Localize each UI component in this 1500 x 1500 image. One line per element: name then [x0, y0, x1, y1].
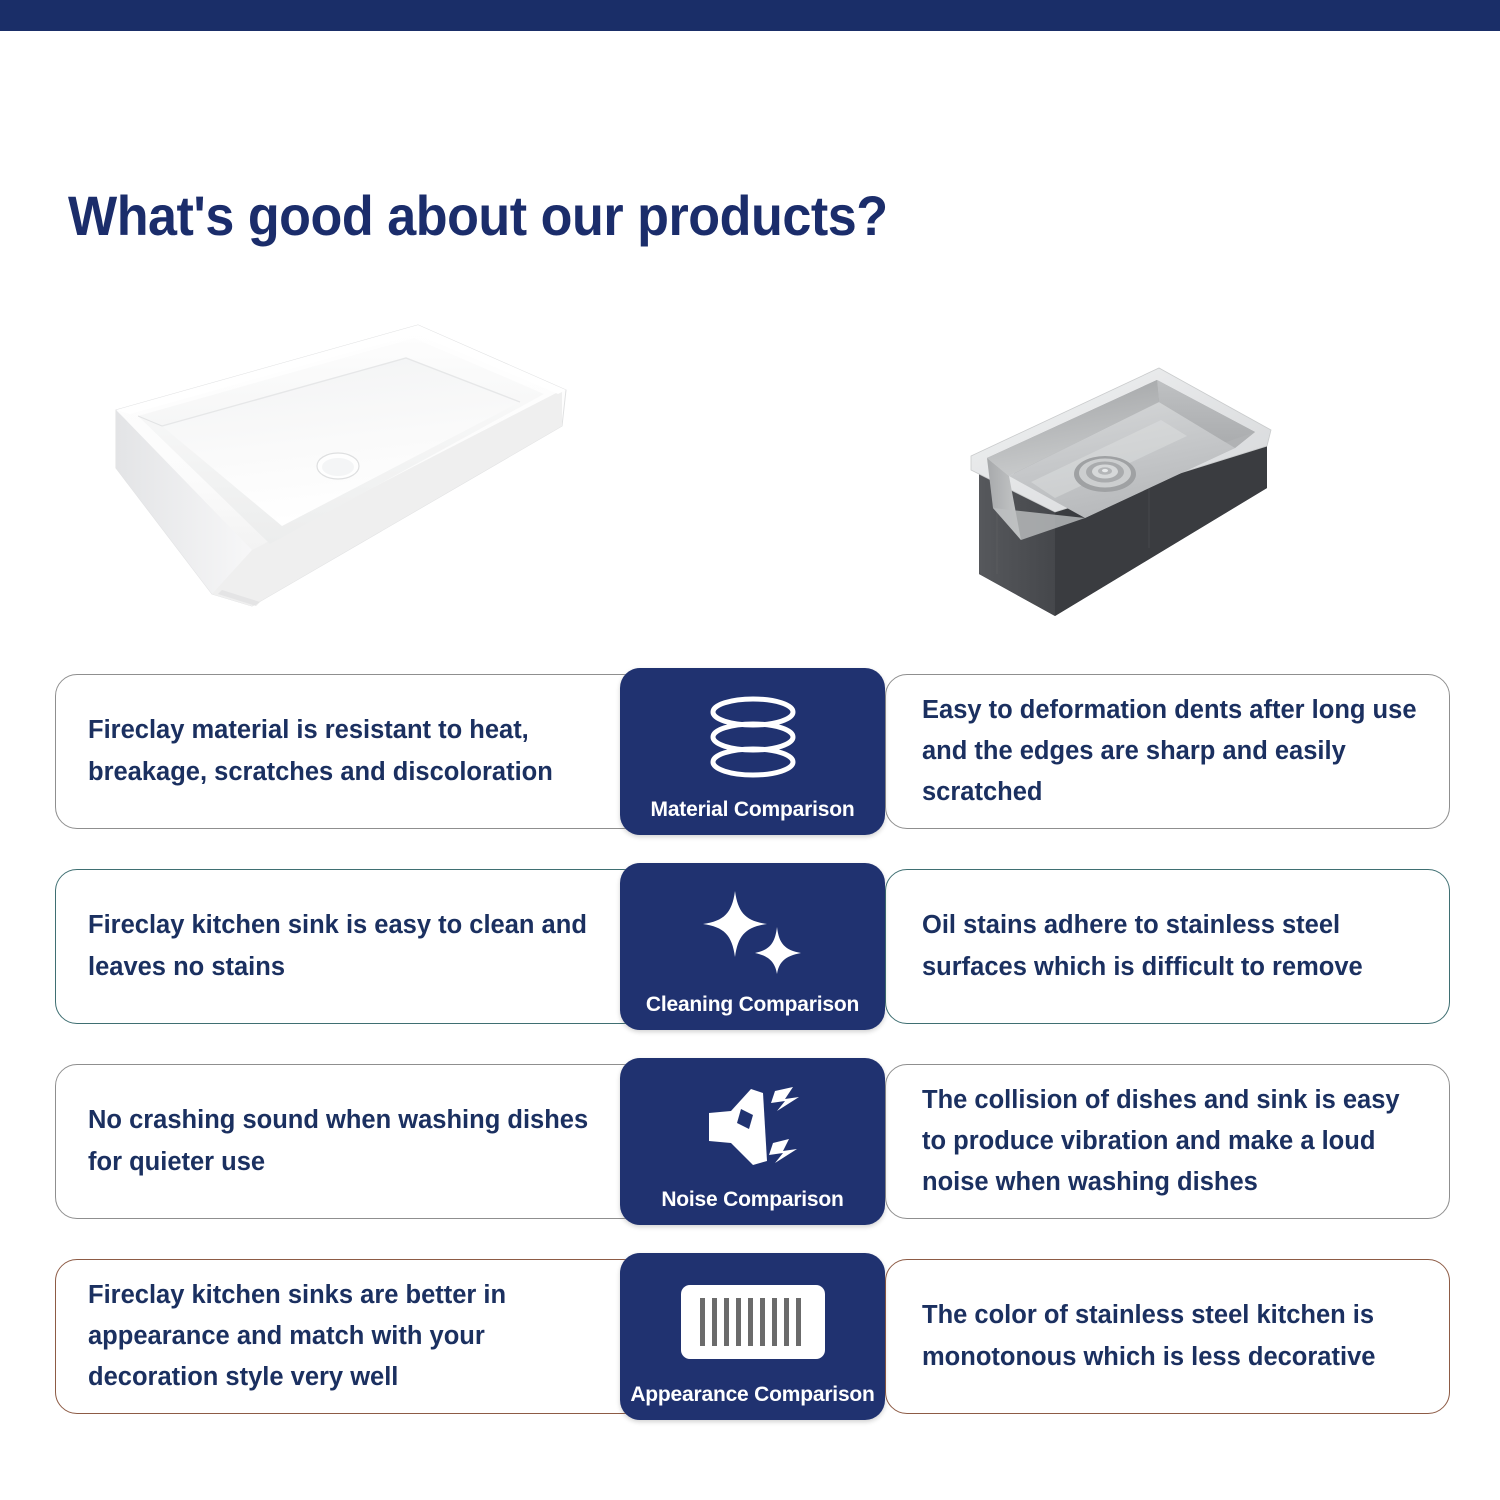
steel-text-material: Easy to deformation dents after long use… — [922, 690, 1421, 814]
fireclay-text-noise: No crashing sound when washing dishes fo… — [88, 1100, 610, 1183]
badge-cleaning-comparison[interactable]: Cleaning Comparison — [620, 863, 885, 1030]
badge-label-appearance: Appearance Comparison — [630, 1383, 874, 1420]
sparkle-icon — [620, 863, 885, 993]
steel-card-material: Easy to deformation dents after long use… — [885, 674, 1450, 829]
comparison-row-appearance: Fireclay kitchen sinks are better in app… — [0, 1253, 1500, 1420]
badge-appearance-comparison[interactable]: Appearance Comparison — [620, 1253, 885, 1420]
fireclay-text-material: Fireclay material is resistant to heat, … — [88, 710, 610, 793]
badge-label-noise: Noise Comparison — [661, 1188, 843, 1225]
product-comparison-infographic: What's good about our products? — [0, 0, 1500, 1500]
top-accent-bar — [0, 0, 1500, 31]
badge-material-comparison[interactable]: Material Comparison — [620, 668, 885, 835]
stainless-steel-sink-image — [935, 358, 1290, 628]
fireclay-card-appearance: Fireclay kitchen sinks are better in app… — [55, 1259, 645, 1414]
steel-text-noise: The collision of dishes and sink is easy… — [922, 1080, 1421, 1204]
product-photo-row — [0, 300, 1500, 660]
comparison-rows: Fireclay material is resistant to heat, … — [0, 668, 1500, 1448]
page-title: What's good about our products? — [68, 183, 888, 248]
fireclay-card-noise: No crashing sound when washing dishes fo… — [55, 1064, 645, 1219]
badge-label-cleaning: Cleaning Comparison — [646, 993, 859, 1030]
megaphone-noise-icon — [620, 1058, 885, 1188]
fireclay-text-appearance: Fireclay kitchen sinks are better in app… — [88, 1275, 610, 1399]
fireclay-card-material: Fireclay material is resistant to heat, … — [55, 674, 645, 829]
steel-card-cleaning: Oil stains adhere to stainless steel sur… — [885, 869, 1450, 1024]
steel-text-cleaning: Oil stains adhere to stainless steel sur… — [922, 905, 1421, 988]
barcode-palette-icon — [620, 1253, 885, 1383]
comparison-row-noise: No crashing sound when washing dishes fo… — [0, 1058, 1500, 1225]
fireclay-text-cleaning: Fireclay kitchen sink is easy to clean a… — [88, 905, 610, 988]
badge-label-material: Material Comparison — [651, 798, 855, 835]
stacked-layers-icon — [620, 668, 885, 798]
badge-noise-comparison[interactable]: Noise Comparison — [620, 1058, 885, 1225]
comparison-row-cleaning: Fireclay kitchen sink is easy to clean a… — [0, 863, 1500, 1030]
fireclay-sink-image — [100, 318, 580, 638]
steel-card-appearance: The color of stainless steel kitchen is … — [885, 1259, 1450, 1414]
comparison-row-material: Fireclay material is resistant to heat, … — [0, 668, 1500, 835]
fireclay-card-cleaning: Fireclay kitchen sink is easy to clean a… — [55, 869, 645, 1024]
steel-card-noise: The collision of dishes and sink is easy… — [885, 1064, 1450, 1219]
steel-text-appearance: The color of stainless steel kitchen is … — [922, 1295, 1421, 1378]
